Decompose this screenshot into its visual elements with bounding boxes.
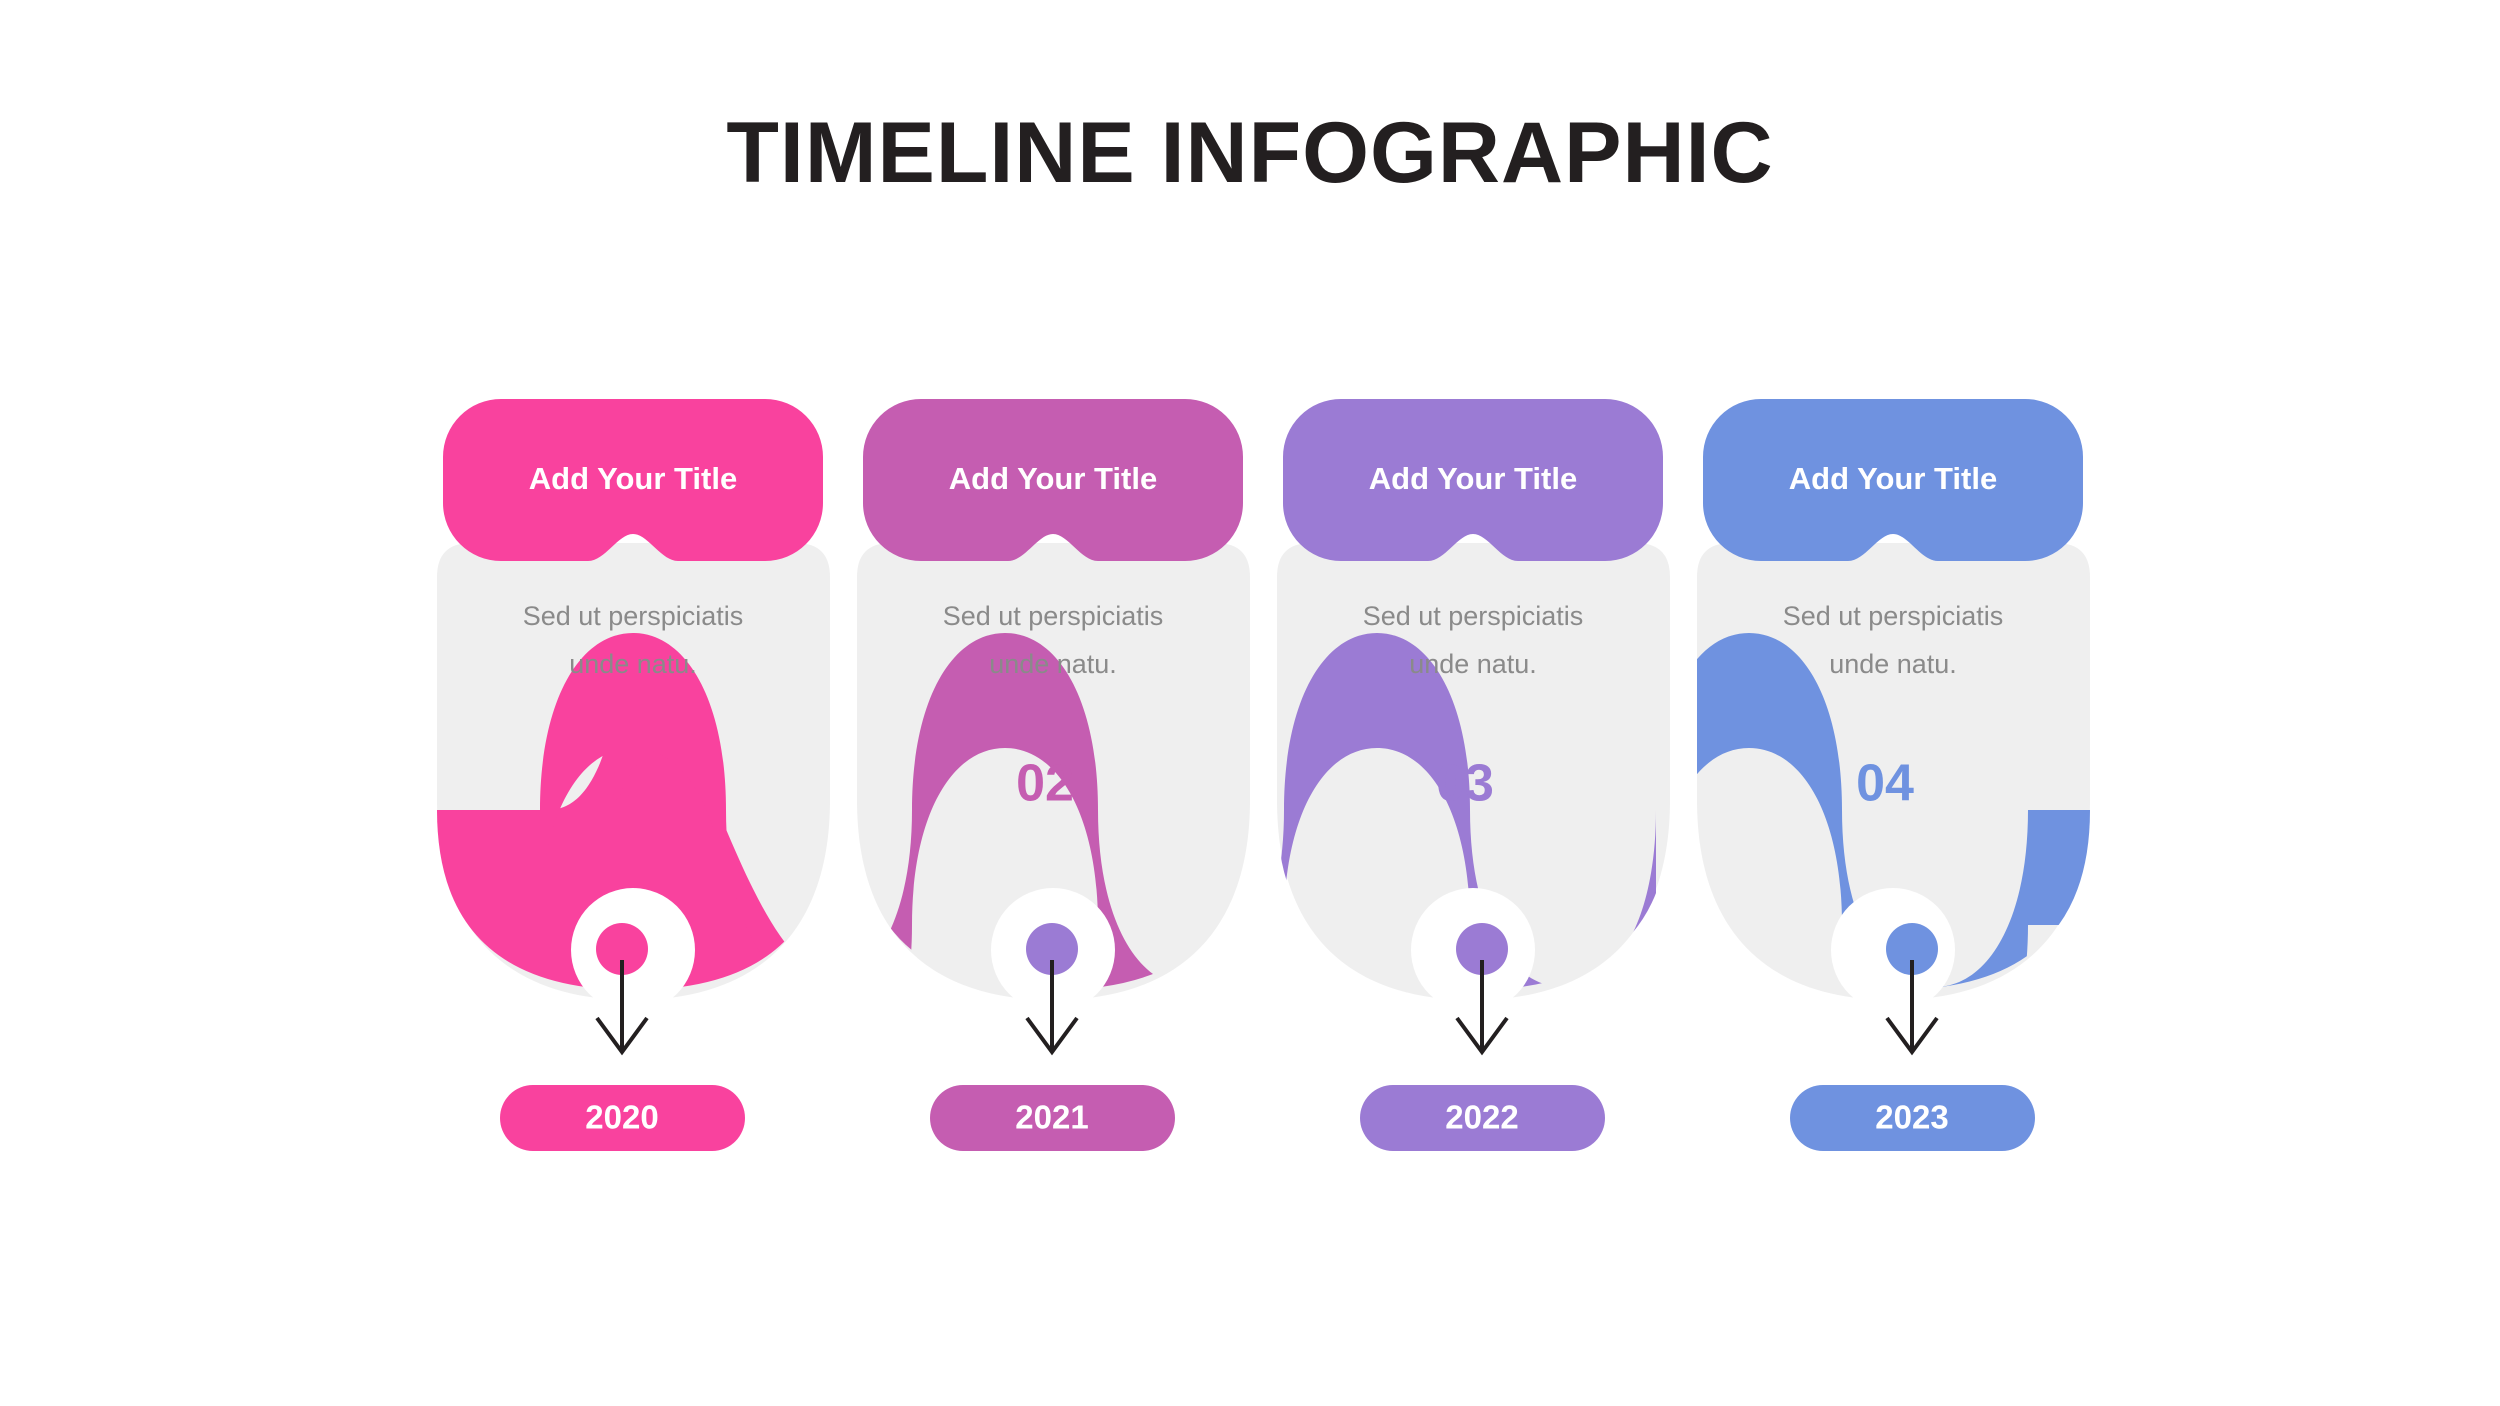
timeline-graphic: Add Your Title Add Your Title Add Your T…	[0, 0, 2500, 1406]
year-pill-3[interactable]: 2022	[1360, 1085, 1605, 1151]
title-pill-3[interactable]: Add Your Title	[1283, 399, 1663, 561]
card-body-line2-2: unde natu.	[989, 649, 1117, 679]
year-label-3: 2022	[1445, 1099, 1518, 1136]
step-number-1: 01	[596, 755, 654, 813]
step-number-3: 03	[1436, 755, 1494, 813]
title-pill-1[interactable]: Add Your Title	[443, 399, 823, 561]
infographic-canvas: TIMELINE INFOGRAPHIC	[0, 0, 2500, 1406]
year-pill-1[interactable]: 2020	[500, 1085, 745, 1151]
title-pill-4[interactable]: Add Your Title	[1703, 399, 2083, 561]
step-number-2: 02	[1016, 755, 1074, 813]
card-body-line1-4: Sed ut perspiciatis	[1783, 601, 2004, 631]
title-pill-label-1: Add Your Title	[529, 461, 737, 496]
card-body-line2-1: unde natu.	[569, 649, 697, 679]
year-pill-4[interactable]: 2023	[1790, 1085, 2035, 1151]
year-pill-2[interactable]: 2021	[930, 1085, 1175, 1151]
year-label-4: 2023	[1875, 1099, 1948, 1136]
card-body-line2-4: unde natu.	[1829, 649, 1957, 679]
year-label-1: 2020	[585, 1099, 658, 1136]
card-body-line2-3: unde natu.	[1409, 649, 1537, 679]
step-number-4: 04	[1856, 755, 1914, 813]
year-pills: 2020 2021 2022 2023	[500, 1085, 2035, 1151]
title-pill-label-2: Add Your Title	[949, 461, 1157, 496]
title-pills: Add Your Title Add Your Title Add Your T…	[443, 399, 2083, 561]
title-pill-label-4: Add Your Title	[1789, 461, 1997, 496]
year-label-2: 2021	[1015, 1099, 1088, 1136]
card-body-line1-2: Sed ut perspiciatis	[943, 601, 1164, 631]
card-body-line1-3: Sed ut perspiciatis	[1363, 601, 1584, 631]
title-pill-2[interactable]: Add Your Title	[863, 399, 1243, 561]
title-pill-label-3: Add Your Title	[1369, 461, 1577, 496]
card-body-line1-1: Sed ut perspiciatis	[523, 601, 744, 631]
